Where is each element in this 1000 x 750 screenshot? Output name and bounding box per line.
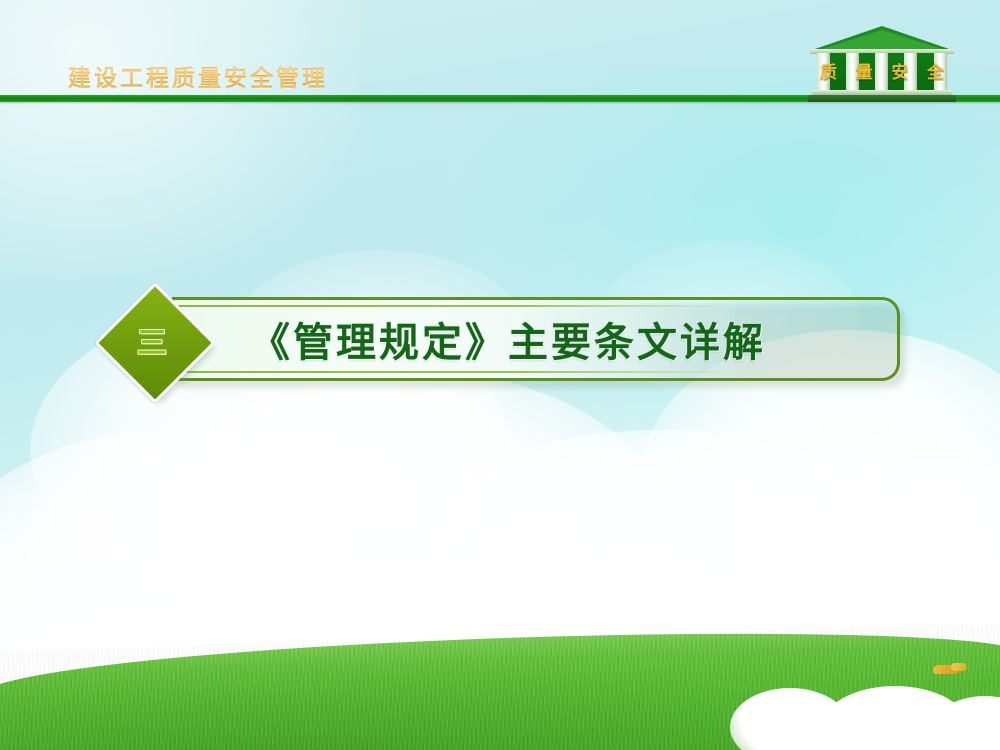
logo-char: 量: [856, 58, 873, 83]
grass-fill: [0, 624, 1000, 750]
slide-canvas: 建设工程质量安全管理 质 量 安 全 《管理规定》主要条文详解 三: [0, 0, 1000, 750]
section-number-badge: 三: [100, 288, 204, 392]
grass-hill: [0, 620, 1000, 750]
logo-char: 全: [927, 58, 944, 83]
logo-char: 质: [820, 58, 837, 83]
header-title: 建设工程质量安全管理: [68, 59, 328, 93]
badge-number-label: 三: [100, 288, 204, 392]
building-roof-highlight: [822, 30, 942, 49]
section-title: 《管理规定》主要条文详解: [250, 297, 890, 381]
grass-shading: [0, 624, 1000, 750]
classical-building-icon: 质 量 安 全: [808, 26, 956, 102]
logo-char: 安: [891, 58, 908, 83]
building-base: [808, 95, 956, 102]
section-title-bar: 《管理规定》主要条文详解: [172, 297, 900, 381]
logo-text: 质 量 安 全: [820, 58, 944, 83]
